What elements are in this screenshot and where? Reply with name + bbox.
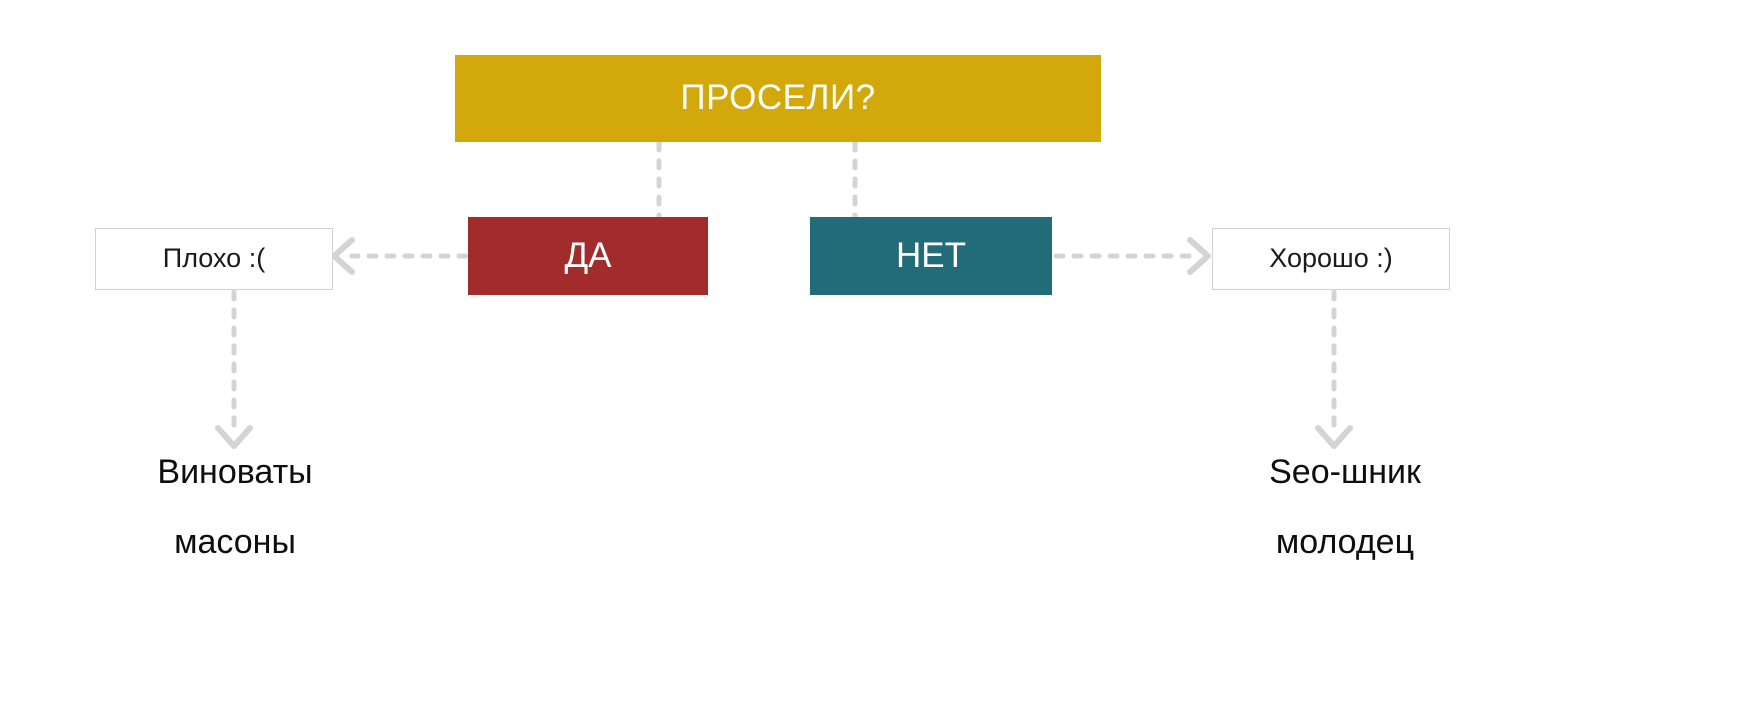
caption-right-line1: Seo-шник [1110,455,1580,489]
caption-left-line2: масоны [0,525,470,559]
node-outcome-good[interactable]: Хорошо :) [1212,228,1450,290]
node-outcome-bad[interactable]: Плохо :( [95,228,333,290]
node-yes-label: ДА [564,237,611,276]
node-root-label: ПРОСЕЛИ? [680,79,875,118]
flowchart-canvas: ПРОСЕЛИ? ДА НЕТ Плохо :( Хорошо :) Винов… [0,0,1749,726]
arrowhead-bad-to-left-caption [218,428,250,446]
caption-right-line2: молодец [1110,525,1580,559]
caption-left-line1: Виноваты [0,455,470,489]
node-yes[interactable]: ДА [468,217,708,295]
node-no[interactable]: НЕТ [810,217,1052,295]
arrowhead-yes-to-bad [334,240,352,272]
node-no-label: НЕТ [896,237,966,276]
node-outcome-good-label: Хорошо :) [1269,244,1392,274]
node-outcome-bad-label: Плохо :( [163,244,265,274]
node-root-question[interactable]: ПРОСЕЛИ? [455,55,1101,142]
arrowhead-good-to-right-caption [1318,428,1350,446]
arrowhead-no-to-good [1190,240,1208,272]
